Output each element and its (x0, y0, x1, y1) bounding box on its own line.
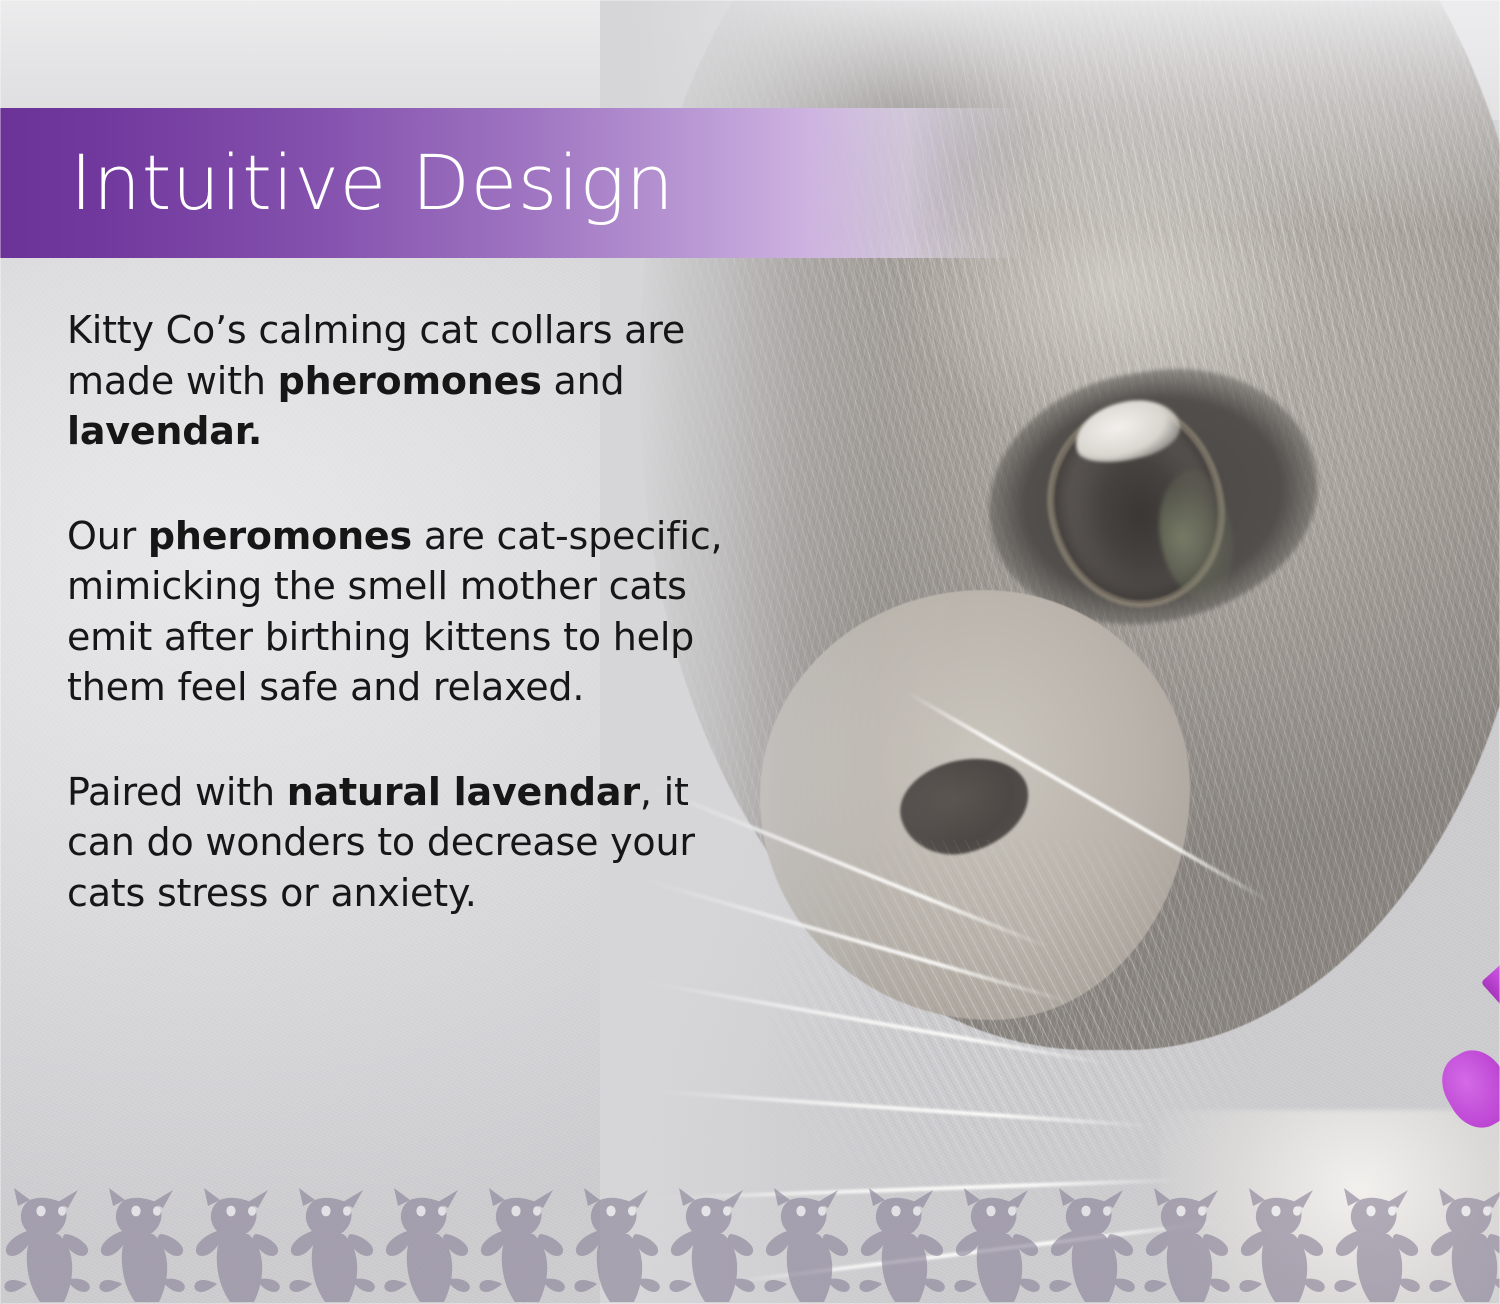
paragraph-2: Our pheromones are cat-specific, mimicki… (67, 511, 727, 713)
paragraph-3-bold-a: natural lavendar (287, 770, 640, 814)
body-copy: Kitty Co’s calming cat collars are made … (67, 305, 727, 918)
paragraph-3-text-a: Paired with (67, 770, 287, 814)
paragraph-1: Kitty Co’s calming cat collars are made … (67, 305, 727, 457)
paragraph-1-bold-a: pheromones (278, 359, 542, 403)
paragraph-2-text-a: Our (67, 514, 148, 558)
paragraph-3: Paired with natural lavendar, it can do … (67, 767, 727, 919)
page-title: Intuitive Design (70, 145, 674, 221)
paragraph-1-bold-b: lavendar. (67, 409, 262, 453)
promo-image-canvas: Intuitive Design Kitty Co’s calming cat … (0, 0, 1500, 1304)
paragraph-1-text-b: and (542, 359, 625, 403)
paragraph-2-bold-a: pheromones (148, 514, 412, 558)
heading-banner: Intuitive Design (0, 108, 1030, 258)
